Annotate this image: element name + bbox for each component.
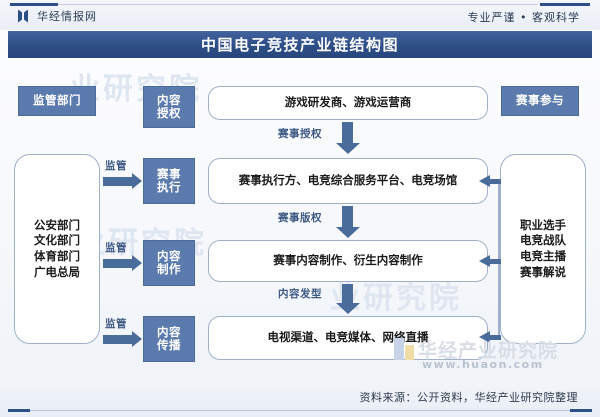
- brand: 华经情报网: [18, 8, 97, 24]
- brand-slogan: 专业严谨 • 客观科学: [468, 9, 580, 25]
- supervise-arrow-2: [103, 259, 133, 268]
- stage-label-content-distribution: 内容 传播: [143, 316, 195, 362]
- stage-box-content-makers: 赛事内容制作、衍生内容制作: [208, 240, 488, 282]
- participants-feed-arrow-2: [489, 259, 501, 264]
- flow-arrow-3: [342, 284, 353, 304]
- flow-arrow-2: [342, 206, 353, 228]
- source-note: 资料来源：公开资料，华经产业研究院整理: [360, 389, 579, 405]
- participants-feed-arrow-1: [489, 179, 501, 184]
- topbar-divider: [58, 4, 538, 5]
- brand-name: 华经情报网: [37, 8, 97, 24]
- supervise-label-1: 监管: [105, 158, 127, 173]
- supervise-label-3: 监管: [105, 316, 127, 331]
- page-title: 中国电子竞技产业链结构图: [201, 34, 399, 55]
- footer-accent-left: [8, 409, 30, 413]
- stage-label-content-license: 内容 授权: [143, 86, 195, 128]
- stage-label-event-execution: 赛事 执行: [143, 158, 195, 204]
- column-header-regulators: 监管部门: [18, 86, 96, 116]
- flow-arrow-1: [342, 122, 353, 144]
- title-banner: 中国电子竞技产业链结构图: [8, 31, 592, 58]
- supervise-arrow-3: [103, 335, 133, 344]
- infographic-page: 华经情报网 专业严谨 • 客观科学 中国电子竞技产业链结构图 业研究院 业研究院…: [0, 0, 600, 417]
- supervise-label-2: 监管: [105, 240, 127, 255]
- column-header-participants: 赛事参与: [501, 86, 579, 116]
- participants-feed-arrow-3: [489, 335, 501, 340]
- stage-label-content-production: 内容 制作: [143, 240, 195, 286]
- participants-panel: 职业选手 电竞战队 电竞主播 赛事解说: [500, 154, 586, 344]
- stage-box-channels: 电视渠道、电竞媒体、网络直播: [208, 316, 488, 360]
- supervise-arrow-1: [103, 177, 133, 186]
- flow-label-content-release: 内容发型: [278, 286, 322, 301]
- footer-accent-right: [570, 409, 592, 413]
- flow-label-event-license: 赛事授权: [278, 126, 322, 141]
- double-triangle-logo-icon: [18, 10, 31, 23]
- regulators-panel: 公安部门 文化部门 体育部门 广电总局: [14, 154, 100, 344]
- footer: 资料来源：公开资料，华经产业研究院整理: [0, 380, 600, 417]
- footer-divider: [8, 410, 592, 412]
- stage-box-event-operators: 赛事执行方、电竞综合服务平台、电竞场馆: [208, 158, 488, 204]
- topbar-accent-left: [10, 3, 58, 6]
- diagram-canvas: 业研究院 业研究院 业研究院 监管部门 赛事参与 公安部门 文化部门 体育部门 …: [0, 58, 600, 358]
- top-bar: 华经情报网 专业严谨 • 客观科学: [0, 0, 600, 30]
- flow-label-event-copyright: 赛事版权: [278, 210, 322, 225]
- stage-box-developers: 游戏研发商、游戏运营商: [208, 86, 488, 120]
- topbar-accent-right: [540, 3, 590, 6]
